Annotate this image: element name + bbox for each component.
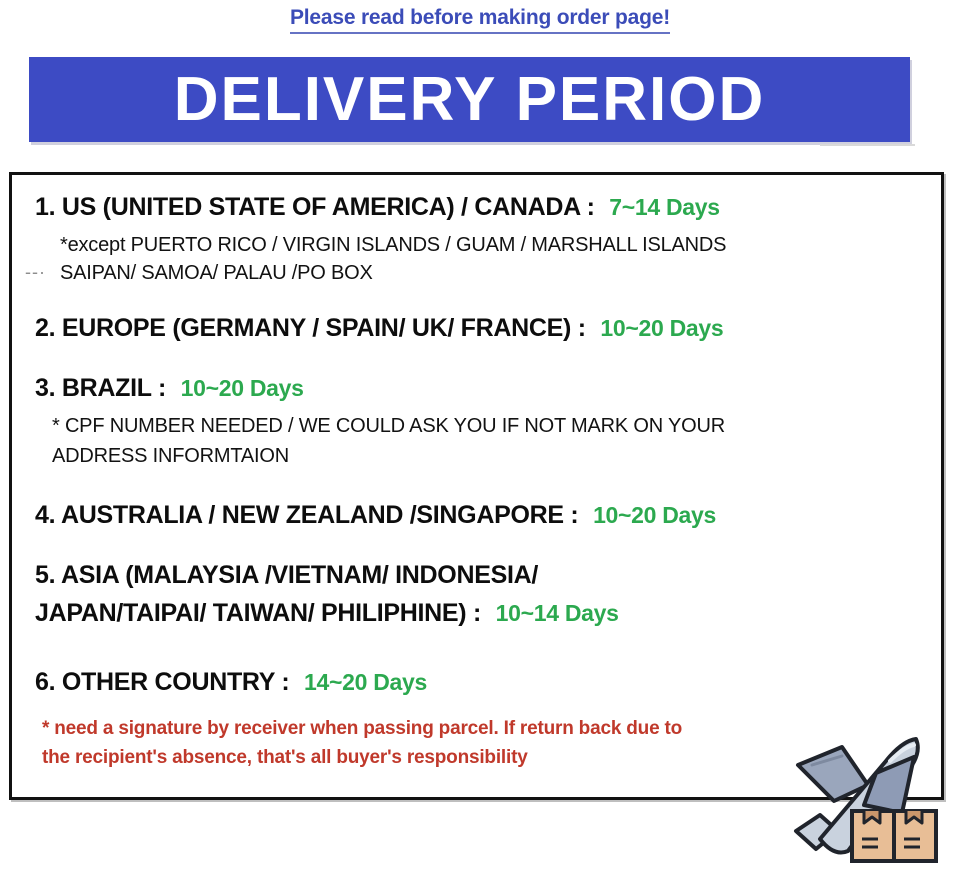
entry-6-other-country: 6. OTHER COUNTRY : 14~20 Days <box>35 667 427 697</box>
entry-2-europe: 2. EUROPE (GERMANY / SPAIN/ UK/ FRANCE) … <box>35 313 723 343</box>
entry-1-us-canada: 1. US (UNITED STATE OF AMERICA) / CANADA… <box>35 192 720 222</box>
red-note-line-2: the recipient's absence, that's all buye… <box>42 744 528 771</box>
delivery-period-banner: DELIVERY PERIOD <box>29 57 910 142</box>
entry-4-label: 4. AUSTRALIA / NEW ZEALAND /SINGAPORE : <box>35 501 578 529</box>
entry-3-brazil: 3. BRAZIL : 10~20 Days <box>35 373 304 403</box>
entry-3-note-2: ADDRESS INFORMTAION <box>52 443 289 469</box>
entry-1-note-1: *except PUERTO RICO / VIRGIN ISLANDS / G… <box>60 232 726 258</box>
entry-6-label: 6. OTHER COUNTRY : <box>35 668 289 696</box>
banner-title-text: DELIVERY PERIOD <box>29 69 910 131</box>
entry-2-label: 2. EUROPE (GERMANY / SPAIN/ UK/ FRANCE) … <box>35 314 586 342</box>
entry-3-days: 10~20 Days <box>181 375 304 401</box>
entry-1-days: 7~14 Days <box>609 194 719 220</box>
entry-4-australia-nz-singapore: 4. AUSTRALIA / NEW ZEALAND /SINGAPORE : … <box>35 500 716 530</box>
dash-artifact-mark: --· <box>25 262 46 283</box>
entry-5-days: 10~14 Days <box>496 600 619 626</box>
entry-2-days: 10~20 Days <box>600 315 723 341</box>
entry-5-label-line2: JAPAN/TAIPAI/ TAIWAN/ PHILIPHINE) : <box>35 599 481 627</box>
read-before-order-link[interactable]: Please read before making order page! <box>290 6 670 34</box>
entry-6-days: 14~20 Days <box>304 669 427 695</box>
entry-1-note-2: SAIPAN/ SAMOA/ PALAU /PO BOX <box>60 260 373 286</box>
entry-5-asia-line1: 5. ASIA (MALAYSIA /VIETNAM/ INDONESIA/ <box>35 560 538 590</box>
entry-3-note-1: * CPF NUMBER NEEDED / WE COULD ASK YOU I… <box>52 413 725 439</box>
entry-3-label: 3. BRAZIL : <box>35 374 166 402</box>
entry-1-label: 1. US (UNITED STATE OF AMERICA) / CANADA… <box>35 193 595 221</box>
plane-right-wing <box>864 757 914 813</box>
entry-5-asia-line2: JAPAN/TAIPAI/ TAIWAN/ PHILIPHINE) : 10~1… <box>35 598 619 628</box>
red-note-line-1: * need a signature by receiver when pass… <box>42 715 682 742</box>
delivery-period-content-box: 1. US (UNITED STATE OF AMERICA) / CANADA… <box>9 172 944 800</box>
top-notice-banner: Please read before making order page! <box>0 6 960 34</box>
entry-4-days: 10~20 Days <box>593 502 716 528</box>
airplane-parcel-graphic <box>790 727 940 867</box>
banner-underline-rule <box>820 144 915 146</box>
